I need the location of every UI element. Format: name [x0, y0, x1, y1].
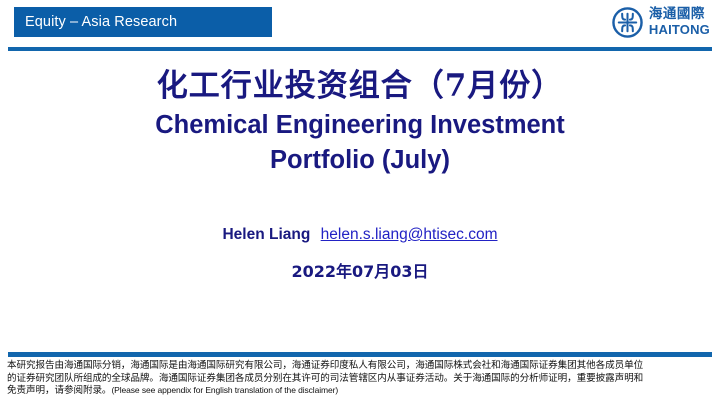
eyebrow-label: Equity – Asia Research	[25, 14, 177, 30]
disclaimer-block: 本研究报告由海通国际分销，海通国际是由海通国际研究有限公司，海通证券印度私人有限…	[7, 360, 715, 398]
author-name: Helen Liang	[222, 226, 310, 243]
header-divider	[8, 47, 712, 51]
logo-chinese-name: 海通國際	[649, 8, 710, 22]
publication-date: 2022年07月03日	[0, 258, 720, 282]
disclaimer-line-2: 的证券研究团队所组成的全球品牌。海通国际证券集团各成员分别在其许可的司法管辖区内…	[7, 373, 715, 386]
disclaimer-line-1: 本研究报告由海通国际分销，海通国际是由海通国际研究有限公司，海通证券印度私人有限…	[7, 360, 715, 373]
disclaimer-line-3-chinese: 免责声明，请参阅附录。	[7, 385, 111, 396]
haitong-pinwheel-emblem	[612, 7, 643, 38]
eyebrow-banner: Equity – Asia Research	[14, 7, 272, 37]
disclaimer-line-3: 免责声明，请参阅附录。(Please see appendix for Engl…	[7, 385, 715, 398]
author-email-link[interactable]: helen.s.liang@htisec.com	[321, 226, 498, 243]
logo-english-name: HAITONG	[649, 23, 710, 36]
title-chinese: 化工行业投资组合（7月份）	[0, 68, 720, 106]
haitong-logo: 海通國際 HAITONG	[586, 6, 710, 38]
byline: Helen Liang helen.s.liang@htisec.com	[0, 226, 720, 244]
footer-divider	[8, 352, 712, 357]
slide-header: Equity – Asia Research 海通國際 HAITONG	[0, 0, 720, 52]
title-english-line2: Portfolio (July)	[0, 145, 720, 177]
title-block: 化工行业投资组合（7月份） Chemical Engineering Inves…	[0, 68, 720, 177]
logo-wordmark: 海通國際 HAITONG	[649, 8, 710, 36]
disclaimer-line-3-english: (Please see appendix for English transla…	[111, 385, 338, 395]
title-english-line1: Chemical Engineering Investment	[0, 110, 720, 142]
